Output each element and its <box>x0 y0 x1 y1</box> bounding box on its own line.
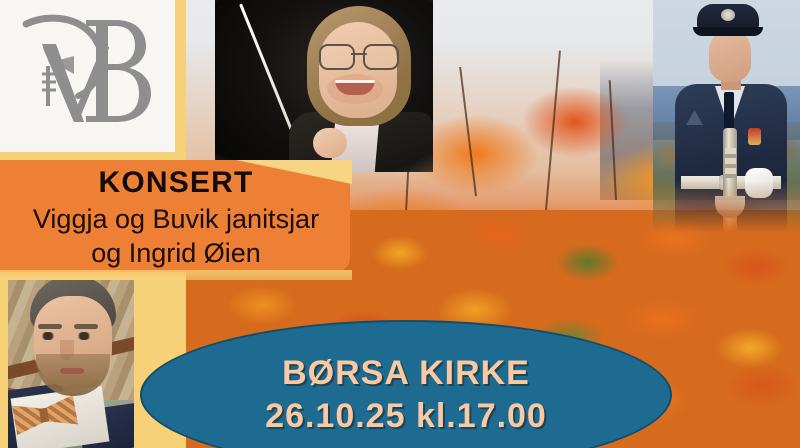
cap-badge-icon <box>721 9 735 21</box>
glasses-icon <box>319 44 399 66</box>
photo-conductor <box>215 0 433 172</box>
event-datetime: 26.10.25 kl.17.00 <box>265 397 547 436</box>
photo-bowtie-man <box>8 280 134 448</box>
ensemble-name: Viggja og Buvik janitsjar <box>0 204 352 235</box>
venue-name: BØRSA KIRKE <box>282 354 530 393</box>
concert-poster: KONSERT Viggja og Buvik janitsjar og Ing… <box>0 0 800 448</box>
banner-text-group: KONSERT Viggja og Buvik janitsjar og Ing… <box>0 160 352 272</box>
soloist-name: og Ingrid Øien <box>0 238 352 269</box>
venue-text-group: BØRSA KIRKE 26.10.25 kl.17.00 <box>140 320 672 448</box>
vb-monogram-logo <box>12 4 172 149</box>
konsert-heading: KONSERT <box>0 166 352 200</box>
photo-trumpeter <box>653 0 800 232</box>
